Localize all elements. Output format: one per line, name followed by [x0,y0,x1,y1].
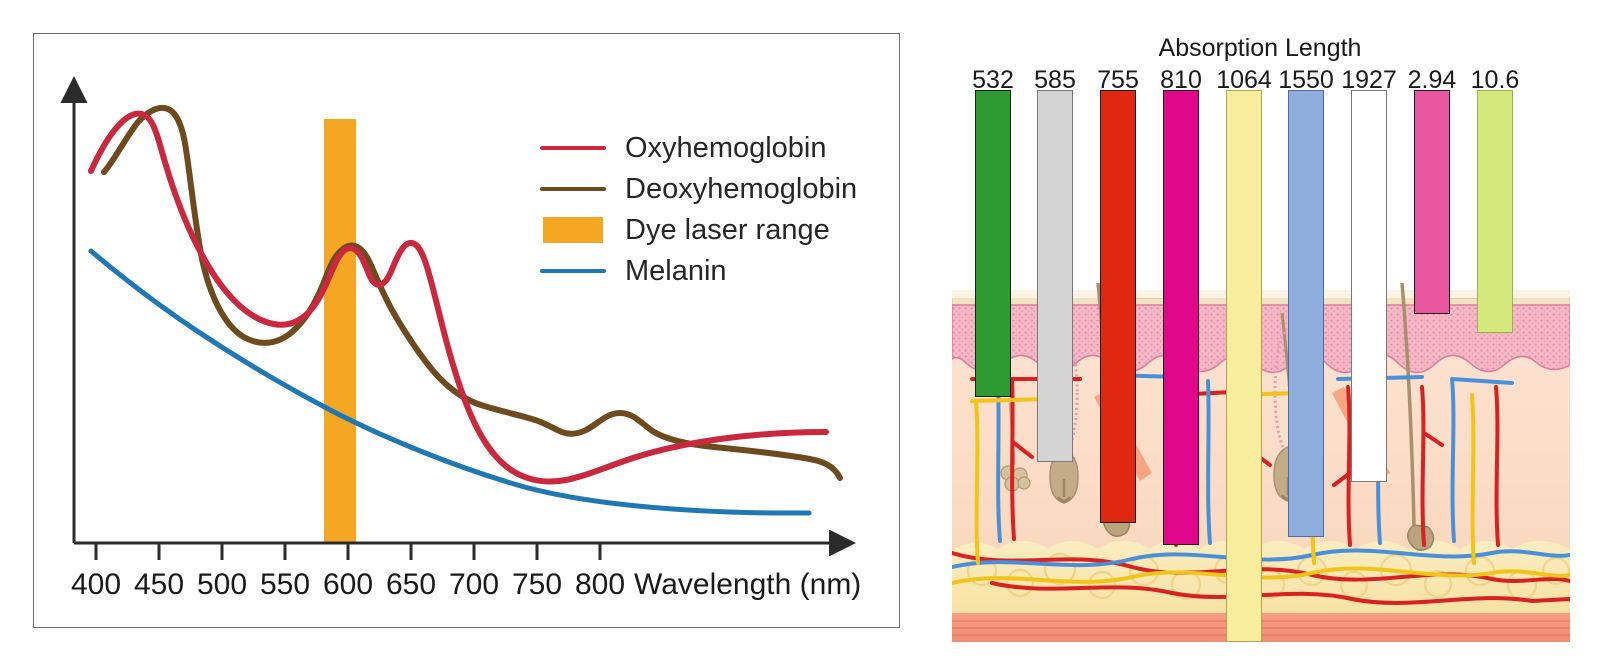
xtick-600: 600 [323,568,373,601]
bar-585 [1037,90,1073,462]
legend-label-melanin: Melanin [625,257,727,286]
legend-label-oxyhemoglobin: Oxyhemoglobin [625,134,827,163]
legend-label-deoxyhemoglobin: Deoxyhemoglobin [625,175,857,204]
bar-1927 [1351,90,1387,482]
absorption-length-bars: 532 585 755 810 1064 1550 1927 2.94 10.6 [930,10,1590,658]
bar-2-94 [1414,90,1450,314]
xtick-450: 450 [134,568,184,601]
bar-1064 [1226,90,1262,642]
xtick-700: 700 [449,568,499,601]
legend-item-melanin: Melanin [540,252,885,290]
bar-532 [975,90,1011,397]
spectra-chart: 400 450 500 550 600 650 700 750 800 Wave… [34,34,901,629]
legend-swatch-dye-laser-range [540,216,606,244]
legend-item-deoxyhemoglobin: Deoxyhemoglobin [540,170,885,208]
bar-1550 [1288,90,1324,537]
x-axis-ticks [96,543,600,560]
xtick-650: 650 [386,568,436,601]
xtick-400: 400 [71,568,121,601]
absorption-spectra-panel: 400 450 500 550 600 650 700 750 800 Wave… [33,33,900,628]
legend-swatch-oxyhemoglobin [540,134,606,162]
xtick-800: 800 [575,568,625,601]
chart-legend: Oxyhemoglobin Deoxyhemoglobin Dye laser … [540,129,885,293]
legend-item-oxyhemoglobin: Oxyhemoglobin [540,129,885,167]
xtick-550: 550 [260,568,310,601]
xtick-500: 500 [197,568,247,601]
bar-10-6 [1477,90,1513,333]
x-axis-title: Wavelength (nm) [634,568,861,601]
legend-swatch-deoxyhemoglobin [540,175,606,203]
xtick-750: 750 [512,568,562,601]
legend-label-dye-laser-range: Dye laser range [625,216,830,245]
legend-item-dye-laser-range: Dye laser range [540,211,885,249]
bar-755 [1100,90,1136,523]
absorption-length-panel: Absorption Length [930,10,1590,658]
legend-swatch-melanin [540,257,606,285]
bar-810 [1163,90,1199,545]
dye-laser-band [324,119,356,543]
